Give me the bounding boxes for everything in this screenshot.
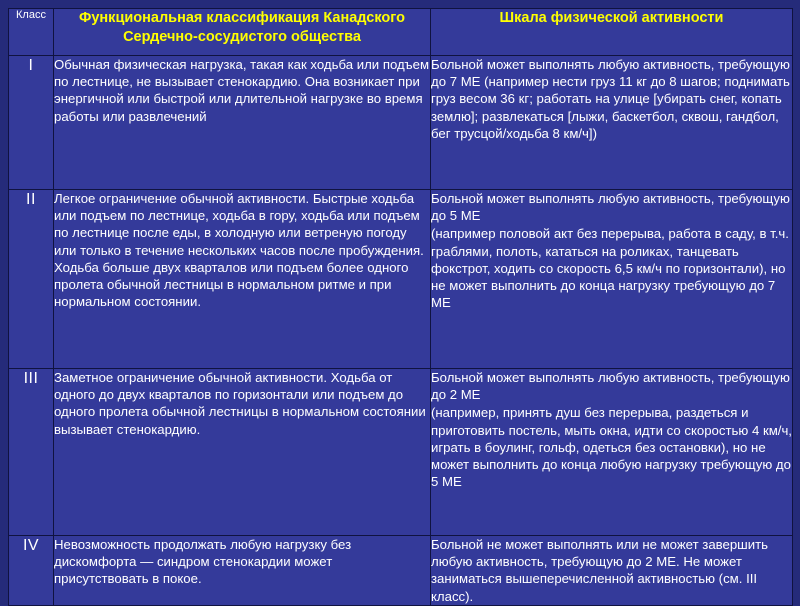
class-numeral-3: III (9, 369, 54, 536)
header-class-label: Класс (9, 9, 54, 56)
class-numeral-2: II (9, 190, 54, 369)
table-row: I Обычная физическая нагрузка, такая как… (9, 56, 793, 190)
scale-description-2: Больной может выполнять любую активность… (431, 190, 793, 369)
scale-description-4: Больной не может выполнять или не может … (431, 536, 793, 606)
table-row: III Заметное ограничение обычной активно… (9, 369, 793, 536)
scale-paragraph: Больной может выполнять любую активность… (431, 190, 792, 224)
scale-paragraph: Больной может выполнять любую активность… (431, 56, 792, 142)
functional-description-4: Невозможность продолжать любую нагрузку … (54, 536, 431, 606)
scale-paragraph: (например, принять душ без перерыва, раз… (431, 404, 792, 490)
scale-paragraph: Больной может выполнять любую активность… (431, 369, 792, 403)
header-physical-activity-scale: Шкала физической активности (431, 9, 793, 56)
scale-paragraph: Больной не может выполнять или не может … (431, 536, 792, 605)
scale-description-1: Больной может выполнять любую активность… (431, 56, 793, 190)
class-numeral-4: IV (9, 536, 54, 606)
table-header-row: Класс Функциональная классификация Канад… (9, 9, 793, 56)
table-row: IV Невозможность продолжать любую нагруз… (9, 536, 793, 606)
angina-classification-table: Класс Функциональная классификация Канад… (8, 8, 793, 606)
functional-description-2: Легкое ограничение обычной активности. Б… (54, 190, 431, 369)
scale-description-3: Больной может выполнять любую активность… (431, 369, 793, 536)
functional-description-1: Обычная физическая нагрузка, такая как х… (54, 56, 431, 190)
classification-table-wrapper: Класс Функциональная классификация Канад… (8, 8, 792, 593)
header-functional-classification: Функциональная классификация Канадского … (54, 9, 431, 56)
class-numeral-1: I (9, 56, 54, 190)
functional-description-3: Заметное ограничение обычной активности.… (54, 369, 431, 536)
scale-paragraph: (например половой акт без перерыва, рабо… (431, 225, 792, 311)
table-row: II Легкое ограничение обычной активности… (9, 190, 793, 369)
slide-canvas: Класс Функциональная классификация Канад… (0, 0, 800, 600)
